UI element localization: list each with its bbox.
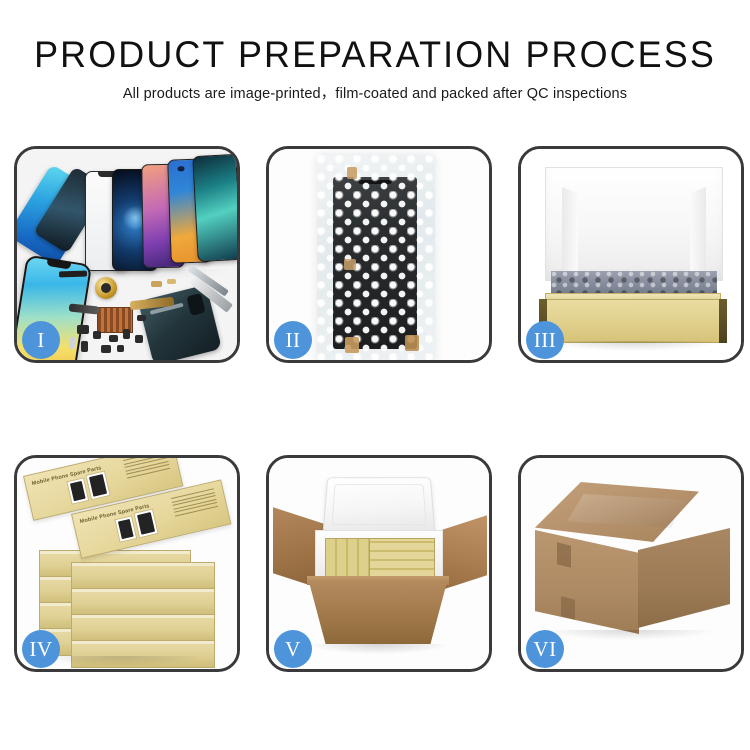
- step-badge-vi: VI: [526, 630, 564, 668]
- box-lid: [545, 167, 723, 281]
- process-steps-grid: I II III: [14, 146, 746, 672]
- bubble-texture: [317, 155, 435, 360]
- tape-piece: [345, 337, 359, 353]
- carton-tape-lower: [561, 596, 575, 619]
- step-badge-i: I: [22, 321, 60, 359]
- step-panel-iii[interactable]: III: [518, 146, 744, 363]
- tape-piece: [347, 167, 357, 179]
- step-panel-v[interactable]: V: [266, 455, 492, 672]
- speaker-coil-part: [95, 277, 117, 299]
- page-header: PRODUCT PREPARATION PROCESS All products…: [0, 0, 750, 102]
- carton-front-panel: [309, 582, 447, 644]
- step-panel-ii[interactable]: II: [266, 146, 492, 363]
- step-badge-v: V: [274, 630, 312, 668]
- step-badge-ii: II: [274, 321, 312, 359]
- bubble-wrap-bag: [317, 155, 435, 360]
- tape-piece: [405, 335, 419, 351]
- box-front-panel: [539, 299, 727, 343]
- step-badge-iii: III: [526, 321, 564, 359]
- earpiece-mesh-part: [59, 271, 87, 278]
- step-panel-iv[interactable]: Mobile Phone Spare Parts Mobile Phone Sp…: [14, 455, 240, 672]
- step-panel-vi[interactable]: VI: [518, 455, 744, 672]
- packed-retail-boxes-stacked: [369, 538, 435, 578]
- step-badge-iv: IV: [22, 630, 60, 668]
- step-panel-i[interactable]: I: [14, 146, 240, 363]
- page-title: PRODUCT PREPARATION PROCESS: [11, 36, 739, 73]
- page-subtitle: All products are image-printed，film-coat…: [0, 87, 750, 102]
- foam-box-lid: [323, 477, 436, 533]
- tape-piece: [344, 259, 356, 270]
- phone-screen-teal: [192, 154, 237, 262]
- carton-tape-upper: [557, 542, 571, 567]
